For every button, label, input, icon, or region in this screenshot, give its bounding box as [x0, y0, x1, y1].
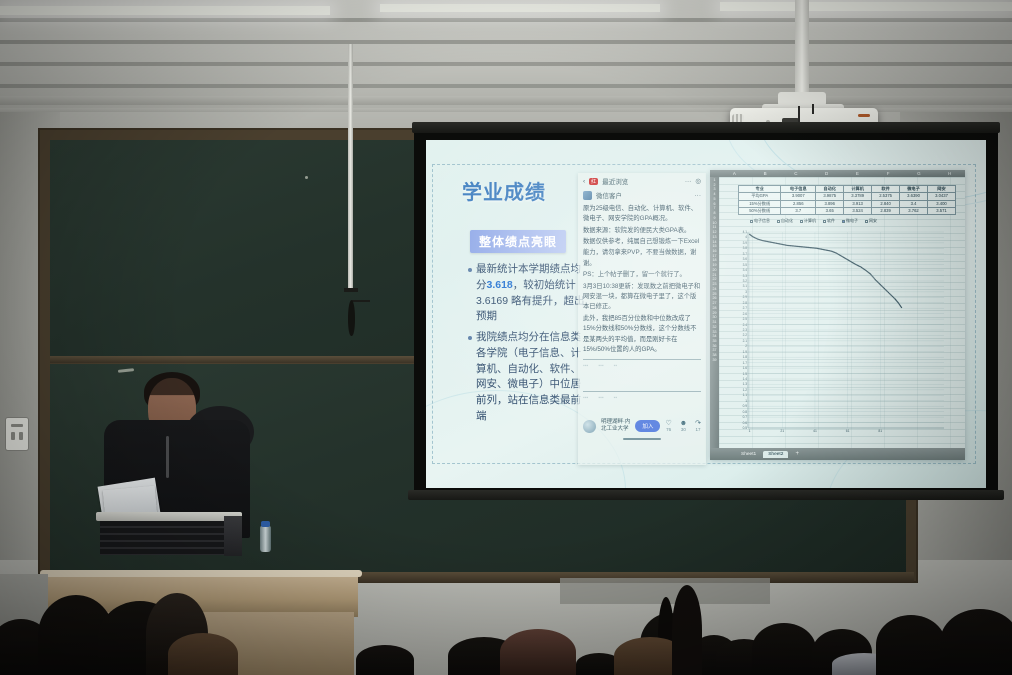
- action-icons: ♡76 ☻30 ↷17: [665, 420, 701, 433]
- y-axis-tick-label: 2.5: [743, 317, 747, 321]
- audience-head: [752, 623, 816, 675]
- comment-icon[interactable]: ☻30: [680, 420, 687, 433]
- home-indicator: [623, 438, 661, 440]
- y-axis-tick-label: 3: [745, 290, 747, 294]
- y-axis-tick-label: 1.6: [743, 366, 747, 370]
- projection-screen: 学业成绩 整体绩点亮眼 最新统计本学期绩点均分3.618，较初始统计 3.616…: [426, 140, 986, 488]
- filter-checkboxes[interactable]: 电子信息自动化计算机软件微电子网安: [750, 218, 877, 224]
- table-row: 15%分数线 2.856 3.896 3.913 2.840 3.4 3.400: [739, 200, 956, 207]
- table-cell: 3.9875: [816, 193, 844, 200]
- meta-row: ▪▪▪▪▪▪▪▪: [578, 363, 706, 369]
- list-item: 最新统计本学期绩点均分3.618，较初始统计 3.6169 略有提升，超出预期: [468, 262, 586, 325]
- y-axis-tick-label: 1.3: [743, 382, 747, 386]
- article-paragraph: 谢。: [583, 259, 701, 269]
- ceiling-light: [380, 4, 660, 12]
- y-axis-tick-label: 4: [745, 235, 747, 239]
- x-axis-tick-label: 61: [846, 429, 850, 433]
- sheet-tab[interactable]: Sheet1: [736, 451, 761, 458]
- checkbox-label: 自动化: [781, 218, 793, 224]
- article-paragraph: 3月3日10:38更新：发现数之前把微电子和网安混一块，都算在微电子里了，这个版…: [583, 282, 701, 313]
- article-paragraph: 原为25级电信、自动化、计算机、软件、微电子、网安学院的GPA概况。: [583, 204, 701, 225]
- table-cell: 3.6390: [900, 193, 928, 200]
- divider: [583, 391, 701, 392]
- column-header[interactable]: C: [781, 171, 812, 176]
- checkbox-icon: [800, 220, 803, 223]
- filter-checkbox[interactable]: 电子信息: [750, 218, 770, 224]
- screen-roller: [412, 122, 1000, 133]
- column-header[interactable]: G: [904, 171, 935, 176]
- x-axis-tick-label: 41: [813, 429, 817, 433]
- table-cell: 50%分数线: [739, 207, 781, 214]
- hoodie-drawstring: [166, 436, 169, 478]
- table-cell: 3.7: [781, 207, 816, 214]
- table-header-cell: 网安: [928, 186, 956, 193]
- article-paragraph: 此外，我把85百分位数和中位数改成了15%分数线和50%分数线，这个分数线不是某…: [583, 314, 701, 356]
- y-axis-tick-label: 4.1: [743, 230, 747, 234]
- table-cell: 3.65: [816, 207, 844, 214]
- y-axis-tick-label: 3.4: [743, 268, 747, 272]
- y-axis-tick-label: 3.6: [743, 257, 747, 261]
- microphone-arm: [352, 300, 370, 302]
- ceiling-light: [0, 6, 330, 15]
- gpa-distribution-chart: 4.143.93.83.73.63.53.43.33.23.132.92.82.…: [748, 232, 944, 428]
- podium-front: [100, 521, 236, 555]
- column-header[interactable]: H: [934, 171, 965, 176]
- table-cell: 3.913: [844, 200, 872, 207]
- y-axis-tick-label: 2.4: [743, 323, 747, 327]
- x-axis-tick-label: 1: [749, 429, 751, 433]
- y-axis-tick-label: 1.9: [743, 350, 747, 354]
- column-header[interactable]: E: [842, 171, 873, 176]
- filter-checkbox[interactable]: 微电子: [842, 218, 858, 224]
- table-cell: 3.896: [816, 200, 844, 207]
- bullet-dot: [468, 268, 472, 272]
- y-axis-tick-label: 0.5: [743, 426, 747, 430]
- list-item: 我院绩点均分在信息类各学院（电子信息、计算机、自动化、软件、网安、微电子）中位居…: [468, 330, 586, 425]
- audience-head: [672, 585, 702, 675]
- column-headers: A B C D E F G H: [710, 170, 965, 177]
- table-cell: 3.571: [928, 207, 956, 214]
- table-cell: 3.524: [844, 207, 872, 214]
- lecture-hall-photo: 学业成绩 整体绩点亮眼 最新统计本学期绩点均分3.618，较初始统计 3.616…: [0, 0, 1012, 675]
- more-dots-icon[interactable]: ···: [695, 192, 702, 199]
- audience-head: [500, 629, 576, 675]
- table-header-cell: 软件: [872, 186, 900, 193]
- audience-head: [940, 609, 1012, 675]
- table-cell: 2.840: [872, 200, 900, 207]
- checkbox-label: 计算机: [804, 218, 816, 224]
- y-axis-tick-label: 0.9: [743, 404, 747, 408]
- y-axis-tick-label: 3.1: [743, 284, 747, 288]
- y-axis-tick-label: 2.8: [743, 301, 747, 305]
- gear-icon[interactable]: ◎: [695, 177, 701, 185]
- y-axis-tick-label: 3.7: [743, 252, 747, 256]
- y-axis-tick-label: 3.9: [743, 241, 747, 245]
- column-header[interactable]: A: [719, 171, 750, 176]
- join-button[interactable]: 加入: [635, 420, 660, 432]
- article-paragraph: 数据仅供参考，纯属自己想锻炼一下Excel能力，请勿拿来PVP，不要当做数据，谢: [583, 237, 701, 258]
- y-axis-tick-label: 1.8: [743, 355, 747, 359]
- chalk-stick: [305, 176, 308, 179]
- row-headers: 1234567891011121314151617181920212223242…: [710, 177, 719, 448]
- bottle-cap: [261, 521, 270, 527]
- wechat-account-row[interactable]: 微信客户 ···: [578, 188, 706, 202]
- table-cell: 3.9007: [781, 193, 816, 200]
- excel-window: A B C D E F G H 123456789101112131415161…: [710, 170, 965, 460]
- more-dots-icon[interactable]: ···: [685, 178, 692, 185]
- table-cell: 3.4: [900, 200, 928, 207]
- checkbox-label: 微电子: [846, 218, 858, 224]
- chart-plot-area: [748, 232, 944, 428]
- wechat-header-title: 最近浏览: [602, 176, 628, 186]
- table-header-cell: 专业: [739, 186, 781, 193]
- bullet-text: 最新统计本学期绩点均分3.618，较初始统计 3.6169 略有提升，超出预期: [476, 262, 586, 325]
- red-badge: 红: [589, 178, 598, 185]
- y-axis-tick-label: 1: [745, 399, 747, 403]
- wechat-card-header: ‹ 红 最近浏览 ··· ◎: [578, 173, 706, 188]
- table-row: 50%分数线 3.7 3.65 3.524 2.839 3.762 3.571: [739, 207, 956, 214]
- wechat-footer: 明理湖畔·内北工业大学 加入 ♡76 ☻30 ↷17: [578, 415, 706, 435]
- table-header-cell: 计算机: [844, 186, 872, 193]
- slide-subtitle-badge: 整体绩点亮眼: [470, 230, 566, 253]
- slide-title: 学业成绩: [462, 176, 546, 205]
- chevron-left-icon[interactable]: ‹: [583, 178, 585, 185]
- checkbox-checked-icon: [842, 220, 845, 223]
- table-cell: 15%分数线: [739, 200, 781, 207]
- x-axis-tick-label: 81: [878, 429, 882, 433]
- table-cell: 3.400: [928, 200, 956, 207]
- audience-head: [356, 645, 414, 675]
- filter-checkbox[interactable]: 自动化: [777, 218, 793, 224]
- microphone-arm: [344, 288, 358, 292]
- checkbox-label: 网安: [869, 218, 877, 224]
- y-axis-tick-label: 0.7: [743, 415, 747, 419]
- table-cell: 3.762: [900, 207, 928, 214]
- bullet-dot: [468, 336, 472, 340]
- y-axis-tick-label: 3.5: [743, 263, 747, 267]
- x-axis-tick-label: 21: [780, 429, 784, 433]
- checkbox-label: 软件: [827, 218, 835, 224]
- table-cell: 平均GPA: [739, 193, 781, 200]
- column-header[interactable]: B: [750, 171, 781, 176]
- column-header[interactable]: D: [811, 171, 842, 176]
- meta-row: ▪▪▪▪▪▪▪▪: [578, 395, 706, 401]
- ceiling-light: [720, 2, 1012, 11]
- organization-name: 明理湖畔·内北工业大学: [601, 419, 630, 433]
- y-axis-tick-label: 2.9: [743, 295, 747, 299]
- y-axis-tick-label: 3.3: [743, 274, 747, 278]
- article-paragraph: PS：上个帖子删了，留一个就行了。: [583, 270, 701, 280]
- wechat-article-card: ‹ 红 最近浏览 ··· ◎ 微信客户 ··· 原为25级电信、自动化、计算机、…: [578, 173, 706, 465]
- filter-checkbox[interactable]: 网安: [865, 218, 877, 224]
- checkbox-label: 电子信息: [754, 218, 770, 224]
- table-cell: 2.856: [781, 200, 816, 207]
- y-axis-tick-label: 3.2: [743, 279, 747, 283]
- podium-top: [96, 512, 242, 521]
- table-header-cell: 自动化: [816, 186, 844, 193]
- avatar: [583, 191, 592, 200]
- table-cell: 2.5375: [872, 193, 900, 200]
- projector-rod: [795, 0, 809, 98]
- table-row: 平均GPA 3.9007 3.9875 3.3789 2.5375 3.6390…: [739, 193, 956, 200]
- wall-socket: [6, 418, 28, 450]
- table-header-cell: 电子信息: [781, 186, 816, 193]
- y-axis-tick-label: 0.8: [743, 410, 747, 414]
- column-header[interactable]: F: [873, 171, 904, 176]
- add-sheet-button[interactable]: +: [790, 450, 804, 458]
- filter-checkbox[interactable]: 计算机: [800, 218, 816, 224]
- podium-side: [224, 516, 242, 556]
- audience-shoulder: [168, 633, 238, 675]
- audience-head: [876, 615, 946, 675]
- university-logo-icon: [583, 420, 596, 433]
- article-paragraph: 数据来源：软院发的便民大类GPA表。: [583, 226, 701, 236]
- table-cell: 3.3789: [844, 193, 872, 200]
- microphone-cable: [348, 44, 353, 290]
- y-axis-tick-label: 1.1: [743, 393, 747, 397]
- screen-bottom-bar: [408, 490, 1004, 500]
- desk-edge: [40, 570, 362, 577]
- wechat-article-body: 原为25级电信、自动化、计算机、软件、微电子、网安学院的GPA概况。 数据来源：…: [578, 202, 706, 355]
- gpa-table[interactable]: 专业 电子信息 自动化 计算机 软件 微电子 网安 平均GPA 3.9007 3…: [738, 185, 956, 215]
- y-axis-tick-label: 2.2: [743, 333, 747, 337]
- heart-icon[interactable]: ♡76: [665, 420, 671, 433]
- y-axis-tick-label: 2.7: [743, 306, 747, 310]
- checkbox-icon: [750, 220, 753, 223]
- wechat-account-name: 微信客户: [596, 190, 622, 200]
- projector-indicator: [858, 114, 870, 117]
- slide-bullet-list: 最新统计本学期绩点均分3.618，较初始统计 3.6169 略有提升，超出预期 …: [468, 262, 586, 430]
- water-bottle: [260, 526, 271, 552]
- table-header-cell: 微电子: [900, 186, 928, 193]
- y-axis-tick-label: 2.6: [743, 312, 747, 316]
- y-axis-tick-label: 1.4: [743, 377, 747, 381]
- y-axis-tick-label: 0.6: [743, 421, 747, 425]
- filter-checkbox[interactable]: 软件: [823, 218, 835, 224]
- checkbox-icon: [823, 220, 826, 223]
- y-axis-tick-label: 2.1: [743, 339, 747, 343]
- share-icon[interactable]: ↷17: [695, 420, 701, 433]
- y-axis-tick-label: 3.8: [743, 246, 747, 250]
- table-cell: 3.0437: [928, 193, 956, 200]
- table-cell: 2.839: [872, 207, 900, 214]
- y-axis-tick-label: 1.2: [743, 388, 747, 392]
- checkbox-icon: [865, 220, 868, 223]
- divider: [583, 359, 701, 360]
- y-axis-tick-label: 2: [745, 344, 747, 348]
- y-axis-tick-label: 1.7: [743, 361, 747, 365]
- table-header-row: 专业 电子信息 自动化 计算机 软件 微电子 网安: [739, 186, 956, 193]
- checkbox-icon: [777, 220, 780, 223]
- bullet-text: 我院绩点均分在信息类各学院（电子信息、计算机、自动化、软件、网安、微电子）中位居…: [476, 330, 586, 425]
- row-header[interactable]: 39: [713, 358, 717, 363]
- chart-series: [749, 234, 902, 308]
- y-axis-tick-label: 1.5: [743, 372, 747, 376]
- y-axis-tick-label: 2.3: [743, 328, 747, 332]
- sheet-tab[interactable]: Sheet2: [763, 451, 788, 458]
- microphone-head: [348, 300, 355, 336]
- sheet-tab-bar: Sheet1 Sheet2 +: [710, 448, 965, 460]
